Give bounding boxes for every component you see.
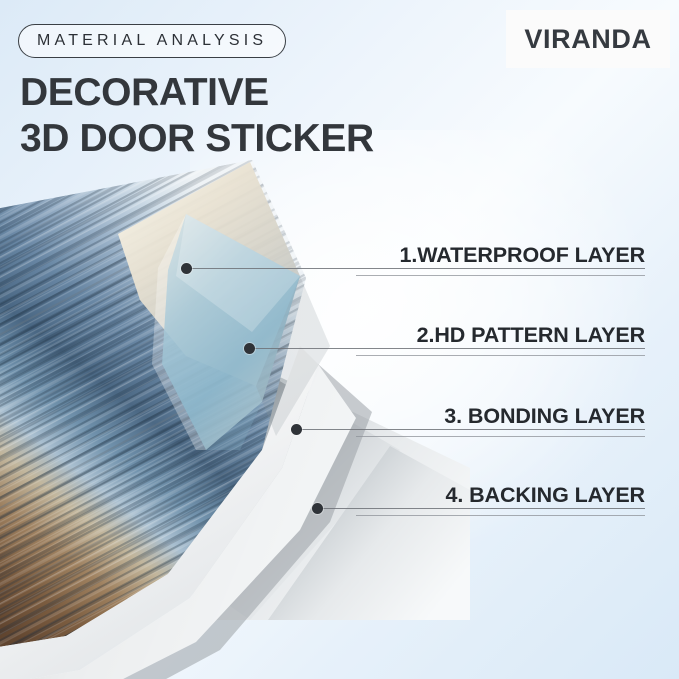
peeled-sticker-artwork	[0, 150, 470, 679]
callout-underline	[356, 355, 645, 356]
brand-name: VIRANDA	[524, 24, 651, 55]
callout-leader-line	[191, 268, 645, 269]
page-title: DECORATIVE 3D DOOR STICKER	[20, 70, 374, 162]
callout-label-3: 3. BONDING LAYER	[444, 404, 645, 429]
brand-logo-box: VIRANDA	[506, 10, 670, 68]
title-line-1: DECORATIVE	[20, 71, 269, 114]
callout-underline	[356, 436, 645, 437]
callout-label-2: 2.HD PATTERN LAYER	[417, 323, 645, 348]
callout-leader-line	[322, 508, 645, 509]
callout-dot	[291, 424, 302, 435]
material-analysis-infographic: MATERIAL ANALYSIS DECORATIVE 3D DOOR STI…	[0, 0, 679, 679]
callout-label-4: 4. BACKING LAYER	[445, 483, 645, 508]
eyebrow-badge: MATERIAL ANALYSIS	[18, 24, 286, 58]
callout-dot	[181, 263, 192, 274]
callout-dot	[312, 503, 323, 514]
callout-leader-line	[301, 429, 645, 430]
callout-label-1: 1.WATERPROOF LAYER	[400, 243, 645, 268]
callout-underline	[356, 515, 645, 516]
callout-dot	[244, 343, 255, 354]
title-line-2: 3D DOOR STICKER	[20, 116, 374, 162]
callout-underline	[356, 275, 645, 276]
callout-leader-line	[254, 348, 645, 349]
